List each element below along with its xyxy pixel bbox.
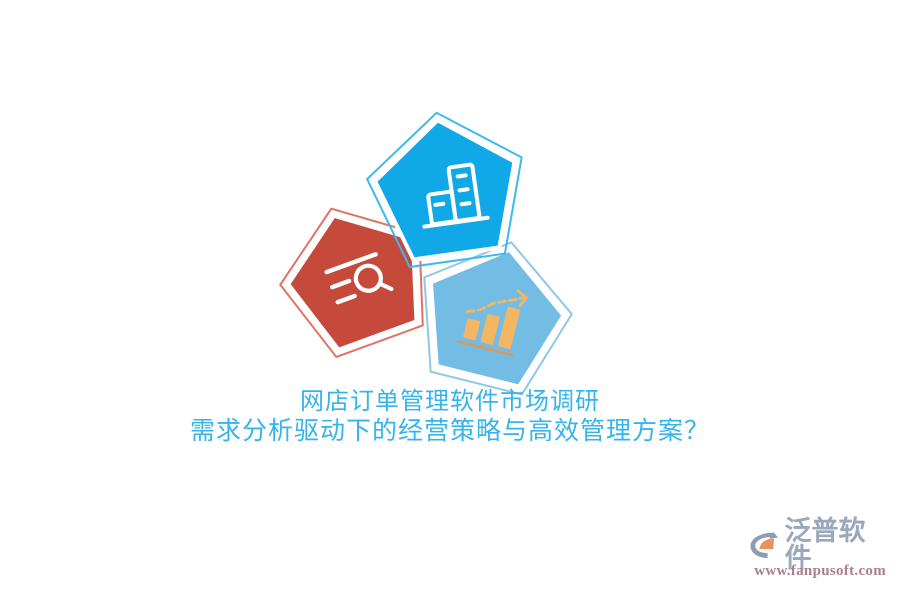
headline-block: 网店订单管理软件市场调研 需求分析驱动下的经营策略与高效管理方案？	[0, 388, 900, 448]
page-canvas: 网店订单管理软件市场调研 需求分析驱动下的经营策略与高效管理方案？ 泛普软件 w…	[0, 0, 900, 600]
headline-line-1: 网店订单管理软件市场调研	[0, 388, 900, 417]
logo-url-text: www.fanpusoft.com	[748, 563, 888, 580]
logo-row: 泛普软件	[748, 526, 888, 564]
headline-line-2: 需求分析驱动下的经营策略与高效管理方案？	[0, 417, 900, 448]
fanpu-logo-icon	[748, 528, 781, 562]
pentagon-cluster-graphic	[270, 110, 590, 400]
watermark-logo: 泛普软件 www.fanpusoft.com	[748, 526, 888, 588]
